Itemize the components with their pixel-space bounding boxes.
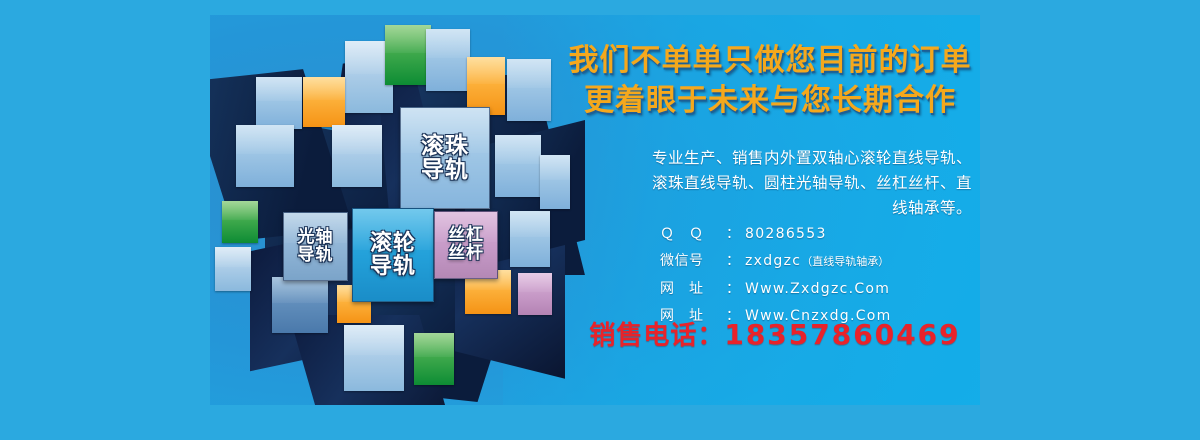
sales-phone-label: 销售电话： (589, 321, 724, 351)
contact-label: 微信号 (660, 248, 726, 275)
decorative-cube (426, 29, 470, 91)
decorative-cube (236, 125, 294, 187)
description-line-1: 专业生产、销售内外置双轴心滚轮直线导轨、 (588, 146, 972, 171)
product-cube-gunlun-daogui[interactable]: 滚轮 导轨 (352, 208, 434, 302)
product-cube-label: 滚珠 导轨 (421, 134, 469, 182)
decorative-cube (385, 25, 431, 85)
decorative-cube (272, 277, 328, 333)
headline-line-2: 更着眼于未来与您长期合作 (560, 81, 980, 121)
decorative-cube (507, 59, 551, 121)
banner-stage: 滚珠 导轨 光轴 导轨 滚轮 导轨 (0, 0, 1200, 440)
contact-row-qq: Ｑ Ｑ ： 80286553 (660, 221, 980, 248)
promo-banner: 滚珠 导轨 光轴 导轨 滚轮 导轨 (210, 15, 980, 405)
product-cube-guangzhou-daogui[interactable]: 光轴 导轨 (283, 212, 348, 281)
decorative-cube (303, 77, 345, 127)
contact-value-website-1[interactable]: Www.Zxdgzc.Com (745, 276, 890, 303)
product-cube-sigang-sigan[interactable]: 丝杠 丝杆 (434, 211, 498, 279)
product-cube-label: 丝杠 丝杆 (448, 227, 484, 263)
product-cube-label: 滚轮 导轨 (370, 232, 416, 278)
contact-separator: ： (726, 221, 740, 248)
contact-value-wechat[interactable]: zxdgzc (745, 248, 801, 275)
sales-phone[interactable]: 销售电话：18357860469 (570, 315, 980, 352)
contact-note-wechat: （直线导轨轴承） (801, 251, 889, 272)
decorative-cube (344, 325, 404, 391)
contact-separator: ： (726, 276, 740, 303)
headline-line-1: 我们不单单只做您目前的订单 (560, 41, 980, 81)
decorative-cube (222, 201, 258, 243)
decorative-cube (215, 247, 251, 291)
contact-label: Ｑ Ｑ (660, 221, 726, 248)
exploding-3d-cubes-artwork: 滚珠 导轨 光轴 导轨 滚轮 导轨 (210, 15, 580, 405)
headline: 我们不单单只做您目前的订单 更着眼于未来与您长期合作 (560, 41, 980, 121)
decorative-cube (495, 135, 541, 197)
description-line-3: 线轴承等。 (588, 196, 972, 221)
contact-row-wechat: 微信号 ： zxdgzc （直线导轨轴承） (660, 248, 980, 275)
banner-text-panel: 我们不单单只做您目前的订单 更着眼于未来与您长期合作 专业生产、销售内外置双轴心… (550, 15, 980, 405)
contact-row-website-1: 网 址 ： Www.Zxdgzc.Com (660, 276, 980, 303)
sales-phone-number[interactable]: 18357860469 (724, 318, 960, 351)
contact-value-qq[interactable]: 80286553 (745, 221, 827, 248)
description: 专业生产、销售内外置双轴心滚轮直线导轨、 滚珠直线导轨、圆柱光轴导轨、丝杠丝杆、… (588, 146, 972, 221)
decorative-cube (332, 125, 382, 187)
contact-label: 网 址 (660, 276, 726, 303)
decorative-cube (510, 211, 550, 267)
product-cube-label: 光轴 导轨 (298, 229, 334, 265)
decorative-cube (256, 77, 302, 129)
decorative-cube (414, 333, 454, 385)
decorative-cube (518, 273, 552, 315)
description-line-2: 滚珠直线导轨、圆柱光轴导轨、丝杠丝杆、直 (588, 171, 972, 196)
contact-list: Ｑ Ｑ ： 80286553 微信号 ： zxdgzc （直线导轨轴承） 网 址… (660, 221, 980, 330)
product-cube-gunzhu-daogui[interactable]: 滚珠 导轨 (400, 107, 490, 209)
contact-separator: ： (726, 248, 740, 275)
